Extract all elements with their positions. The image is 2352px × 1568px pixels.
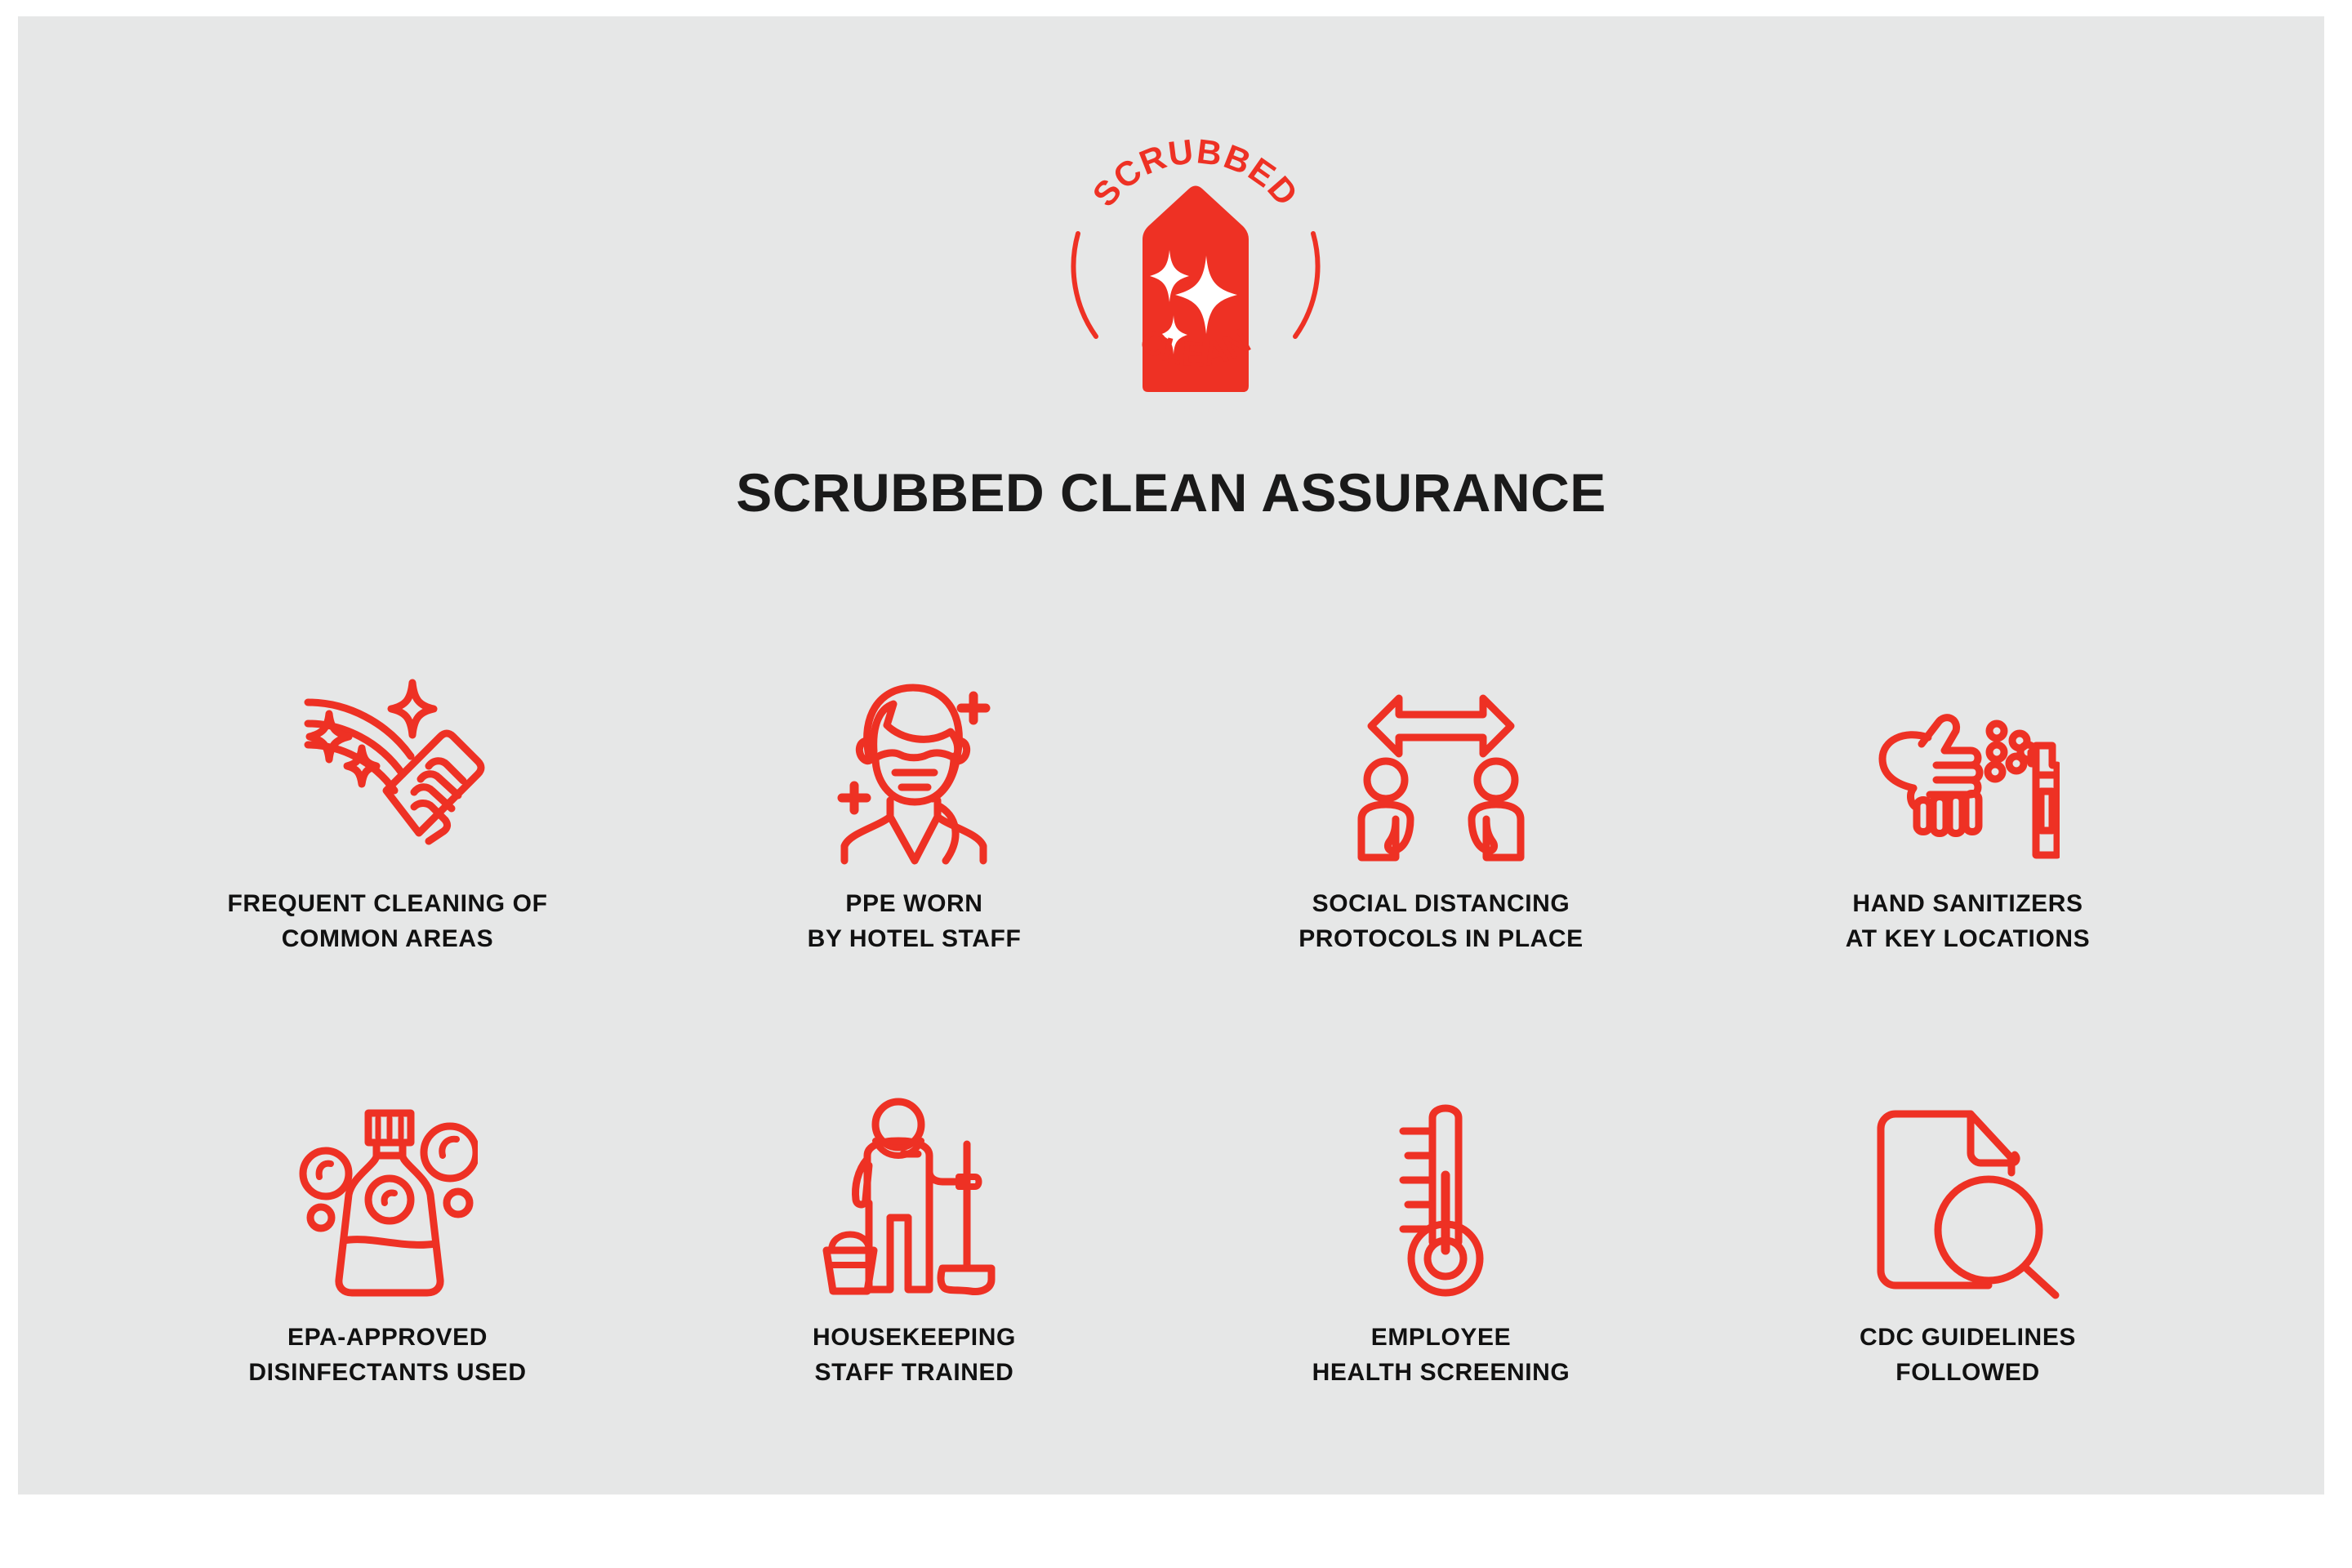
logo-arc-right	[1295, 234, 1318, 336]
document-magnifier-icon	[1874, 1038, 2062, 1299]
feature-label: SOCIAL DISTANCING PROTOCOLS IN PLACE	[1298, 887, 1584, 956]
scrubbed-clean-logo: SCRUBBED CLEAN	[1057, 129, 1334, 407]
page-title: SCRUBBED CLEAN ASSURANCE	[18, 461, 2324, 523]
feature-label: CDC GUIDELINES FOLLOWED	[1860, 1321, 2076, 1390]
logo-svg: SCRUBBED CLEAN	[1057, 129, 1334, 407]
feature-item-ppe-worn: PPE WORN BY HOTEL STAFF	[651, 604, 1178, 956]
masked-staff-icon	[833, 604, 996, 866]
feature-label: PPE WORN BY HOTEL STAFF	[808, 887, 1022, 956]
feature-item-social-distancing: SOCIAL DISTANCING PROTOCOLS IN PLACE	[1178, 604, 1704, 956]
feature-grid: FREQUENT CLEANING OF COMMON AREAS	[124, 604, 2231, 1390]
feature-label: FREQUENT CLEANING OF COMMON AREAS	[228, 887, 548, 956]
feature-label: HOUSEKEEPING STAFF TRAINED	[813, 1321, 1016, 1390]
feature-item-frequent-cleaning: FREQUENT CLEANING OF COMMON AREAS	[124, 604, 651, 956]
feature-label: EPA-APPROVED DISINFECTANTS USED	[248, 1321, 526, 1390]
logo-arc-left	[1073, 234, 1096, 336]
poster-panel: SCRUBBED CLEAN SCRUBBED CLEAN ASSURANCE	[18, 16, 2324, 1494]
thermometer-icon	[1380, 1038, 1503, 1299]
disinfectant-bottle-icon	[298, 1038, 478, 1299]
hand-sanitizer-spray-icon	[1876, 604, 2060, 866]
housekeeping-mop-bucket-icon	[818, 1038, 1010, 1299]
social-distancing-icon	[1353, 604, 1529, 866]
feature-item-epa-disinfectants: EPA-APPROVED DISINFECTANTS USED	[124, 1038, 651, 1390]
feature-item-health-screening: EMPLOYEE HEALTH SCREENING	[1178, 1038, 1704, 1390]
feature-label: HAND SANITIZERS AT KEY LOCATIONS	[1846, 887, 2091, 956]
feature-label: EMPLOYEE HEALTH SCREENING	[1312, 1321, 1570, 1390]
feature-item-hand-sanitizers: HAND SANITIZERS AT KEY LOCATIONS	[1704, 604, 2231, 956]
cleaning-cloth-sparkle-icon	[290, 604, 486, 866]
feature-item-housekeeping-trained: HOUSEKEEPING STAFF TRAINED	[651, 1038, 1178, 1390]
feature-item-cdc-guidelines: CDC GUIDELINES FOLLOWED	[1704, 1038, 2231, 1390]
